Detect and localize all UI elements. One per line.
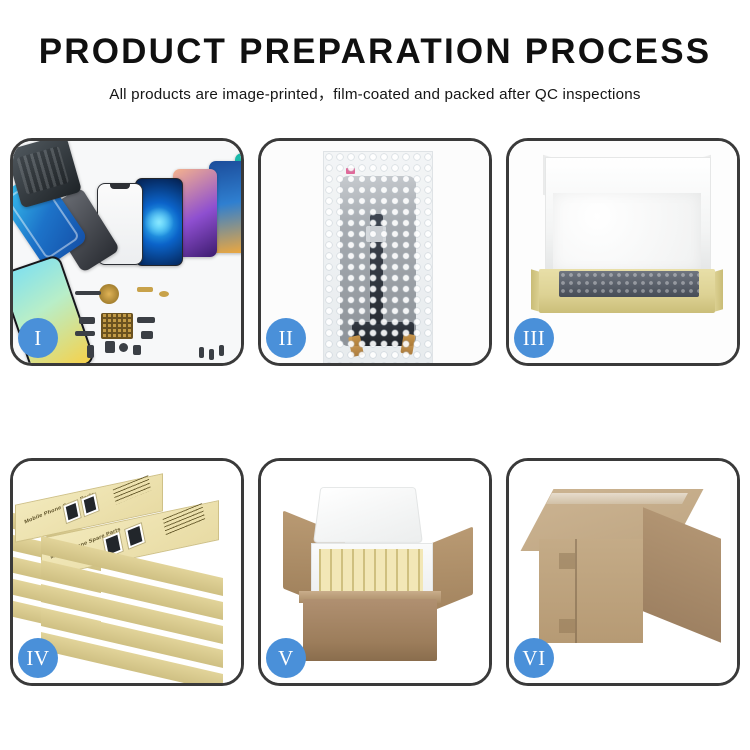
process-step-panel-2: II: [258, 138, 492, 366]
process-step-panel-1: I: [10, 138, 244, 366]
header: PRODUCT PREPARATION PROCESS All products…: [0, 0, 750, 104]
step-badge-3: III: [514, 318, 554, 358]
step-badge-1: I: [18, 318, 58, 358]
product-preparation-infographic: PRODUCT PREPARATION PROCESS All products…: [0, 0, 750, 750]
step-badge-4: IV: [18, 638, 58, 678]
process-step-panel-4: Mobile Phone Spare Parts Mobile Phone Sp…: [10, 458, 244, 686]
step-badge-6: VI: [514, 638, 554, 678]
page-title: PRODUCT PREPARATION PROCESS: [0, 34, 750, 69]
process-step-grid: I II: [10, 138, 740, 686]
page-subtitle: All products are image-printed，film-coat…: [0, 82, 750, 104]
process-step-panel-6: VI: [506, 458, 740, 686]
step-badge-2: II: [266, 318, 306, 358]
step-badge-5: V: [266, 638, 306, 678]
process-step-panel-3: III: [506, 138, 740, 366]
process-step-panel-5: V: [258, 458, 492, 686]
